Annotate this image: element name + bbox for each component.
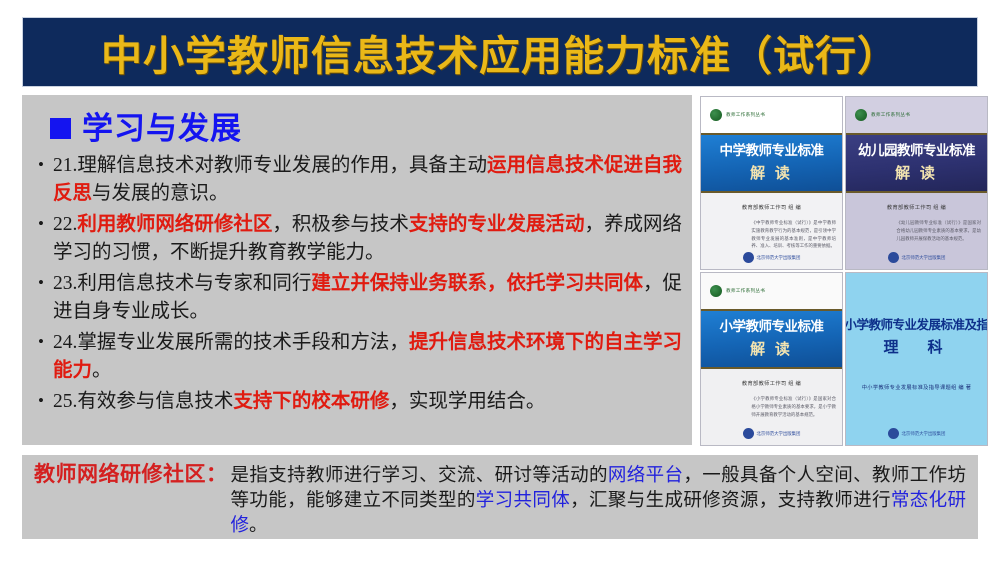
book-publisher: 北京师范大学出版集团 [846, 428, 987, 439]
book-cover: 教师工作系列丛书小学教师专业标准解 读教育部教师工作司 组 编《小学教师专业标准… [700, 272, 843, 446]
standard-item-text-segment: 25.有效参与信息技术 [53, 391, 233, 412]
book-title-band: 小学教师专业标准解 读 [701, 309, 842, 369]
book-blurb: 《幼儿园教师专业标准（试行）》是国家对合格幼儿园教师专业素质的基本要求，是幼儿园… [896, 219, 981, 242]
book-subtitle: 解 读 [750, 162, 793, 183]
book-series-header: 教师工作系列丛书 [701, 97, 842, 133]
publisher-emblem-icon [710, 109, 722, 121]
blue-square-bullet-icon [50, 118, 71, 139]
book-title: 幼儿园教师专业标准 [858, 144, 975, 159]
book-series-header: 教师工作系列丛书 [846, 97, 987, 133]
slide-canvas: 中小学教师信息技术应用能力标准（试行） 学习与发展 21.理解信息技术对教师专业… [0, 0, 1000, 562]
slide-title: 中小学教师信息技术应用能力标准（试行） [101, 22, 899, 82]
standard-item-text-segment: 与发展的意识。 [92, 183, 229, 204]
standard-item-text-segment: ，实现学用结合。 [389, 391, 545, 412]
definition-text-segment: 是指支持教师进行学习、交流、研讨等活动的 [231, 464, 608, 485]
standard-item-text-segment: 24.掌握专业发展所需的技术手段和方法， [53, 332, 409, 353]
definition-term: 教师网络研修社区： [34, 462, 228, 487]
book-series-label: 教师工作系列丛书 [726, 112, 765, 118]
book-publisher-label: 北京师范大学出版集团 [757, 255, 801, 261]
definition-body: 是指支持教师进行学习、交流、研讨等活动的网络平台，一般具备个人空间、教师工作坊等… [228, 462, 967, 537]
standard-item: 25.有效参与信息技术支持下的校本研修，实现学用结合。 [36, 388, 682, 416]
book-blurb: 《小学教师专业标准（试行）》是国家对合格小学教师专业素质的基本要求，是小学教师开… [751, 395, 836, 418]
book-series-header: 教师工作系列丛书 [701, 273, 842, 309]
section-heading: 学习与发展 [50, 113, 682, 144]
section-heading-label: 学习与发展 [82, 113, 242, 144]
standard-item: 23.利用信息技术与专家和同行建立并保持业务联系，依托学习共同体，促进自身专业成… [36, 270, 682, 326]
standard-item-text-segment: 利用教师网络研修社区 [77, 214, 272, 235]
definition-text-segment: 网络平台 [608, 464, 683, 485]
book-blurb: 《中学教师专业标准（试行）》是中学教师实施教育教学行为的基本规范，是引领中学教师… [751, 219, 836, 250]
book-title-band: 幼儿园教师专业标准解 读 [846, 133, 987, 193]
standard-item: 22.利用教师网络研修社区，积极参与技术支持的专业发展活动，养成网络学习的习惯，… [36, 211, 682, 267]
content-panel: 学习与发展 21.理解信息技术对教师专业发展的作用，具备主动运用信息技术促进自我… [22, 95, 692, 445]
book-editor: 教育部教师工作司 组 编 [887, 204, 946, 211]
book-publisher: 北京师范大学出版集团 [701, 252, 842, 263]
standard-item: 21.理解信息技术对教师专业发展的作用，具备主动运用信息技术促进自我反思与发展的… [36, 152, 682, 208]
standard-item-text-segment: 21.理解信息技术对教师专业发展的作用，具备主动 [53, 155, 487, 176]
book-cover: 教师工作系列丛书幼儿园教师专业标准解 读教育部教师工作司 组 编《幼儿园教师专业… [845, 96, 988, 270]
definition-box: 教师网络研修社区： 是指支持教师进行学习、交流、研讨等活动的网络平台，一般具备个… [22, 455, 978, 539]
standards-bullet-list: 21.理解信息技术对教师专业发展的作用，具备主动运用信息技术促进自我反思与发展的… [36, 152, 682, 416]
definition-text-segment: 。 [249, 514, 268, 535]
book-editor: 中小学教师专业发展标准及指导课题组 编 著 [862, 384, 972, 391]
publisher-logo-icon [888, 428, 899, 439]
book-cover-gallery: 教师工作系列丛书中学教师专业标准解 读教育部教师工作司 组 编《中学教师专业标准… [700, 96, 988, 446]
publisher-emblem-icon [710, 285, 722, 297]
publisher-logo-icon [888, 252, 899, 263]
standard-item-text-segment: 23.利用信息技术与专家和同行 [53, 273, 311, 294]
definition-text-segment: 学习共同体 [476, 489, 570, 510]
publisher-emblem-icon [855, 109, 867, 121]
book-title: 小学教师专业标准 [720, 320, 824, 335]
publisher-logo-icon [743, 428, 754, 439]
book-publisher-label: 北京师范大学出版集团 [902, 255, 946, 261]
book-editor: 教育部教师工作司 组 编 [742, 380, 801, 387]
standard-item-text-segment: 22. [53, 214, 77, 235]
book-title: 中学教师专业标准 [720, 144, 824, 159]
standard-item-text-segment: ，积极参与技术 [272, 214, 409, 235]
book-subtitle: 理 科 [883, 336, 949, 357]
slide-title-banner: 中小学教师信息技术应用能力标准（试行） [22, 17, 978, 87]
publisher-logo-icon [743, 252, 754, 263]
book-cover: 教师工作系列丛书中学教师专业标准解 读教育部教师工作司 组 编《中学教师专业标准… [700, 96, 843, 270]
book-series-header [846, 273, 987, 309]
standard-item-text-segment: 支持下的校本研修 [233, 391, 389, 412]
book-subtitle: 解 读 [750, 338, 793, 359]
book-publisher-label: 北京师范大学出版集团 [757, 431, 801, 437]
standard-item-text-segment: 。 [92, 360, 112, 381]
book-series-label: 教师工作系列丛书 [871, 112, 910, 118]
book-series-label: 教师工作系列丛书 [726, 288, 765, 294]
book-publisher-label: 北京师范大学出版集团 [902, 431, 946, 437]
standard-item-text-segment: 建立并保持业务联系，依托学习共同体 [311, 273, 643, 294]
book-title-band: 中小学教师专业发展标准及指导理 科 [846, 309, 987, 367]
book-subtitle: 解 读 [895, 162, 938, 183]
book-title-band: 中学教师专业标准解 读 [701, 133, 842, 193]
book-publisher: 北京师范大学出版集团 [701, 428, 842, 439]
book-editor: 教育部教师工作司 组 编 [742, 204, 801, 211]
standard-item-text-segment: 支持的专业发展活动 [409, 214, 585, 235]
standard-item: 24.掌握专业发展所需的技术手段和方法，提升信息技术环境下的自主学习能力。 [36, 329, 682, 385]
book-publisher: 北京师范大学出版集团 [846, 252, 987, 263]
book-title: 中小学教师专业发展标准及指导 [845, 319, 988, 333]
book-cover: 中小学教师专业发展标准及指导理 科中小学教师专业发展标准及指导课题组 编 著北京… [845, 272, 988, 446]
definition-text-segment: ，汇聚与生成研修资源，支持教师进行 [570, 489, 891, 510]
